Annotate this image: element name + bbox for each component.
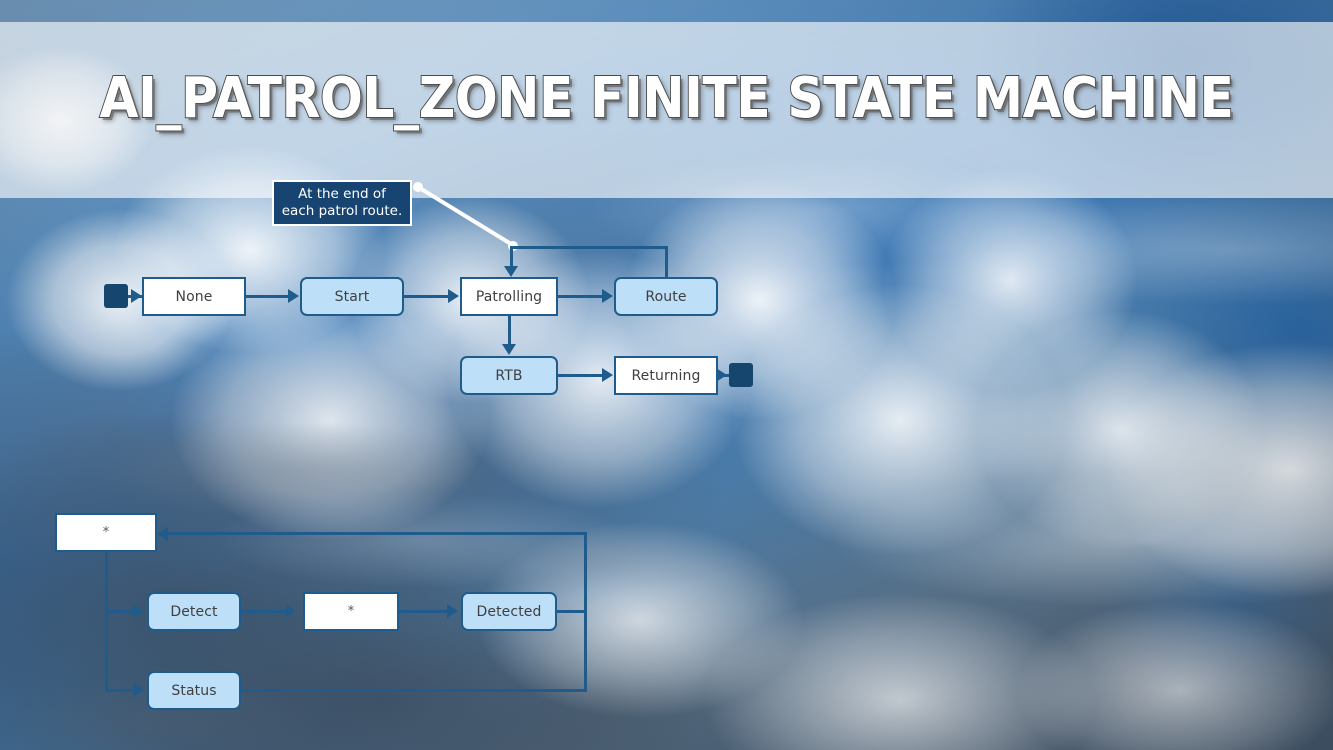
arrowhead-to-returning <box>602 368 613 382</box>
node-patrolling[interactable]: Patrolling <box>460 277 558 316</box>
node-patrolling-label: Patrolling <box>476 289 542 305</box>
node-status[interactable]: Status <box>147 671 241 710</box>
node-returning-label: Returning <box>631 368 700 384</box>
end-terminator <box>729 363 753 387</box>
edge-return-rail-vertical <box>584 532 587 692</box>
node-none-label: None <box>176 289 213 305</box>
node-detect-label: Detect <box>170 604 217 620</box>
start-terminator <box>104 284 128 308</box>
node-any-state-1[interactable]: * <box>55 513 157 552</box>
arrowhead-to-detected <box>447 604 458 618</box>
arrowhead-route-loop-to-patrolling <box>504 266 518 277</box>
callout-leader-start-dot <box>413 182 423 192</box>
arrowhead-to-detect <box>133 604 144 618</box>
node-detected-label: Detected <box>477 604 542 620</box>
arrowhead-to-end-terminator <box>716 368 727 382</box>
edge-detected-return-horizontal <box>557 610 587 613</box>
node-any-state-2-label: * <box>348 604 355 619</box>
edge-route-loop-vertical-right <box>665 246 668 277</box>
arrowhead-to-status <box>133 683 144 697</box>
arrowhead-return-to-any-state-1 <box>157 527 168 541</box>
node-returning[interactable]: Returning <box>614 356 718 395</box>
arrowhead-to-rtb <box>502 344 516 355</box>
edge-return-rail-top-horizontal <box>168 532 587 535</box>
node-none[interactable]: None <box>142 277 246 316</box>
edge-none-to-start <box>246 295 294 298</box>
node-detected[interactable]: Detected <box>461 592 557 631</box>
edge-route-loop-horizontal <box>510 246 668 249</box>
node-start[interactable]: Start <box>300 277 404 316</box>
callout-line-2: each patrol route. <box>279 203 405 220</box>
edge-patrolling-to-rtb <box>508 316 511 344</box>
callout-box: At the end of each patrol route. <box>272 180 412 226</box>
node-rtb-label: RTB <box>495 368 522 384</box>
callout-line-1: At the end of <box>279 186 405 203</box>
page-title: AI_PATROL_ZONE FINITE STATE MACHINE <box>67 66 1267 131</box>
node-status-label: Status <box>171 683 216 699</box>
arrowhead-to-none <box>131 289 142 303</box>
slide-canvas: AI_PATROL_ZONE FINITE STATE MACHINE At t… <box>0 0 1333 750</box>
node-rtb[interactable]: RTB <box>460 356 558 395</box>
node-any-state-1-label: * <box>103 525 110 540</box>
arrowhead-to-route <box>602 289 613 303</box>
edge-status-return-horizontal <box>241 689 587 692</box>
node-any-state-2[interactable]: * <box>303 592 399 631</box>
node-route[interactable]: Route <box>614 277 718 316</box>
arrowhead-to-any-state-2 <box>285 604 296 618</box>
edge-route-loop-vertical-left <box>510 246 513 268</box>
node-start-label: Start <box>335 289 370 305</box>
node-detect[interactable]: Detect <box>147 592 241 631</box>
arrowhead-to-patrolling <box>448 289 459 303</box>
edge-spine-vertical <box>105 552 108 691</box>
node-route-label: Route <box>645 289 686 305</box>
arrowhead-to-start <box>288 289 299 303</box>
